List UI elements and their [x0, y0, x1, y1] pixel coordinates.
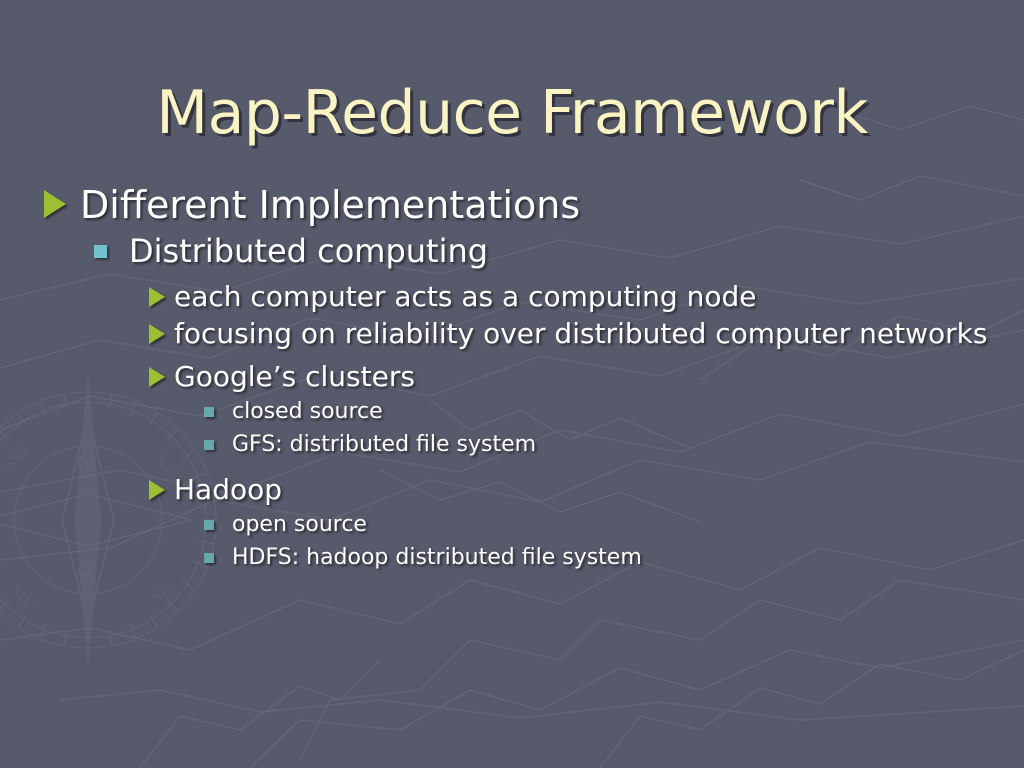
square-bullet-icon	[200, 396, 232, 428]
spacer	[38, 462, 988, 472]
triangle-bullet-icon	[146, 472, 174, 508]
svg-text:SW: SW	[6, 581, 37, 612]
square-bullet-icon	[200, 509, 232, 541]
bullet-text: open source	[232, 509, 988, 541]
bullet-text: Distributed computing	[129, 231, 988, 271]
triangle-bullet-icon	[146, 279, 174, 315]
bullet-item-level1: Different Implementations	[38, 182, 988, 228]
bullet-item-level3: each computer acts as a computing node	[38, 279, 988, 315]
square-bullet-icon	[200, 429, 232, 461]
bullet-text: Hadoop	[174, 472, 988, 508]
triangle-bullet-icon	[38, 182, 80, 226]
slide-body-content: Different Implementations Distributed co…	[38, 182, 988, 575]
bullet-text: focusing on reliability over distributed…	[174, 316, 988, 352]
svg-text:NW: NW	[0, 442, 33, 475]
bullet-item-level4: open source	[38, 509, 988, 541]
triangle-bullet-icon	[146, 359, 174, 395]
bullet-item-level3: Hadoop	[38, 472, 988, 508]
bullet-text: Different Implementations	[80, 182, 988, 228]
presentation-slide: N S NW NE SW SE Map-Reduce Framework Dif…	[0, 0, 1024, 768]
square-bullet-icon	[90, 231, 129, 271]
bullet-text: GFS: distributed file system	[232, 429, 988, 461]
bullet-item-level4: closed source	[38, 396, 988, 428]
bullet-text: closed source	[232, 396, 988, 428]
bullet-item-level3: Google’s clusters	[38, 359, 988, 395]
bullet-item-level2: Distributed computing	[38, 231, 988, 271]
bullet-text: Google’s clusters	[174, 359, 988, 395]
svg-text:SE: SE	[147, 579, 175, 607]
bullet-item-level3: focusing on reliability over distributed…	[38, 316, 988, 352]
square-bullet-icon	[200, 542, 232, 574]
bullet-text: HDFS: hadoop distributed file system	[232, 542, 988, 574]
bullet-item-level4: HDFS: hadoop distributed file system	[38, 542, 988, 574]
bullet-text: each computer acts as a computing node	[174, 279, 988, 315]
triangle-bullet-icon	[146, 316, 174, 352]
title-block: Map-Reduce Framework	[0, 42, 1024, 185]
page-title: Map-Reduce Framework	[156, 82, 867, 145]
bullet-item-level4: GFS: distributed file system	[38, 429, 988, 461]
